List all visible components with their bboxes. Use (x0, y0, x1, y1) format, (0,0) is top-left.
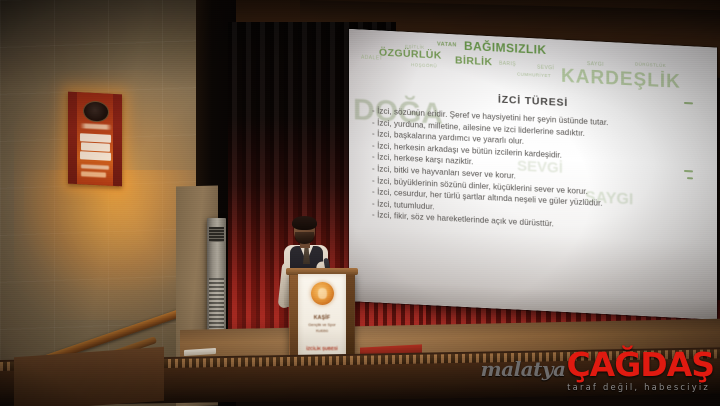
photograph-scene: DOĞA SEVGİ SAYGI ÖZGÜRLÜK ADALET VATAN B… (0, 0, 720, 406)
floor-speaker-unit (207, 218, 226, 344)
podium-banner-title: KAŞİF (298, 315, 346, 321)
wall-poster-headline-1 (80, 133, 111, 143)
podium-banner-line3: Kulübü (298, 328, 346, 333)
podium-banner-line2: Gençlik ve Spor (298, 322, 346, 327)
slide-green-mark (684, 170, 693, 172)
speaker-grille (209, 227, 224, 242)
podium-emblem-icon (311, 282, 334, 305)
podium-banner-footer: İZCİLİK ŞUBESİ (298, 346, 346, 351)
slide-green-mark (684, 102, 693, 104)
podium: KAŞİF Gençlik ve Spor Kulübü İZCİLİK ŞUB… (289, 272, 355, 364)
podium-left-edge (290, 273, 298, 363)
podium-right-edge (346, 273, 354, 363)
wall-poster-headline-3 (80, 151, 111, 161)
presenter-hair (292, 216, 317, 230)
slide-bullet-list: İzci, sözünün eridir. Şeref ve haysiyeti… (372, 105, 712, 238)
projection-screen: DOĞA SEVGİ SAYGI ÖZGÜRLÜK ADALET VATAN B… (349, 29, 717, 320)
slide-green-mark (687, 177, 693, 179)
wall-poster (68, 92, 122, 187)
podium-banner: KAŞİF Gençlik ve Spor Kulübü İZCİLİK ŞUB… (298, 274, 346, 364)
stage-step (14, 347, 164, 406)
wall-poster-headline-2 (81, 142, 110, 152)
presenter-beard (295, 232, 314, 244)
